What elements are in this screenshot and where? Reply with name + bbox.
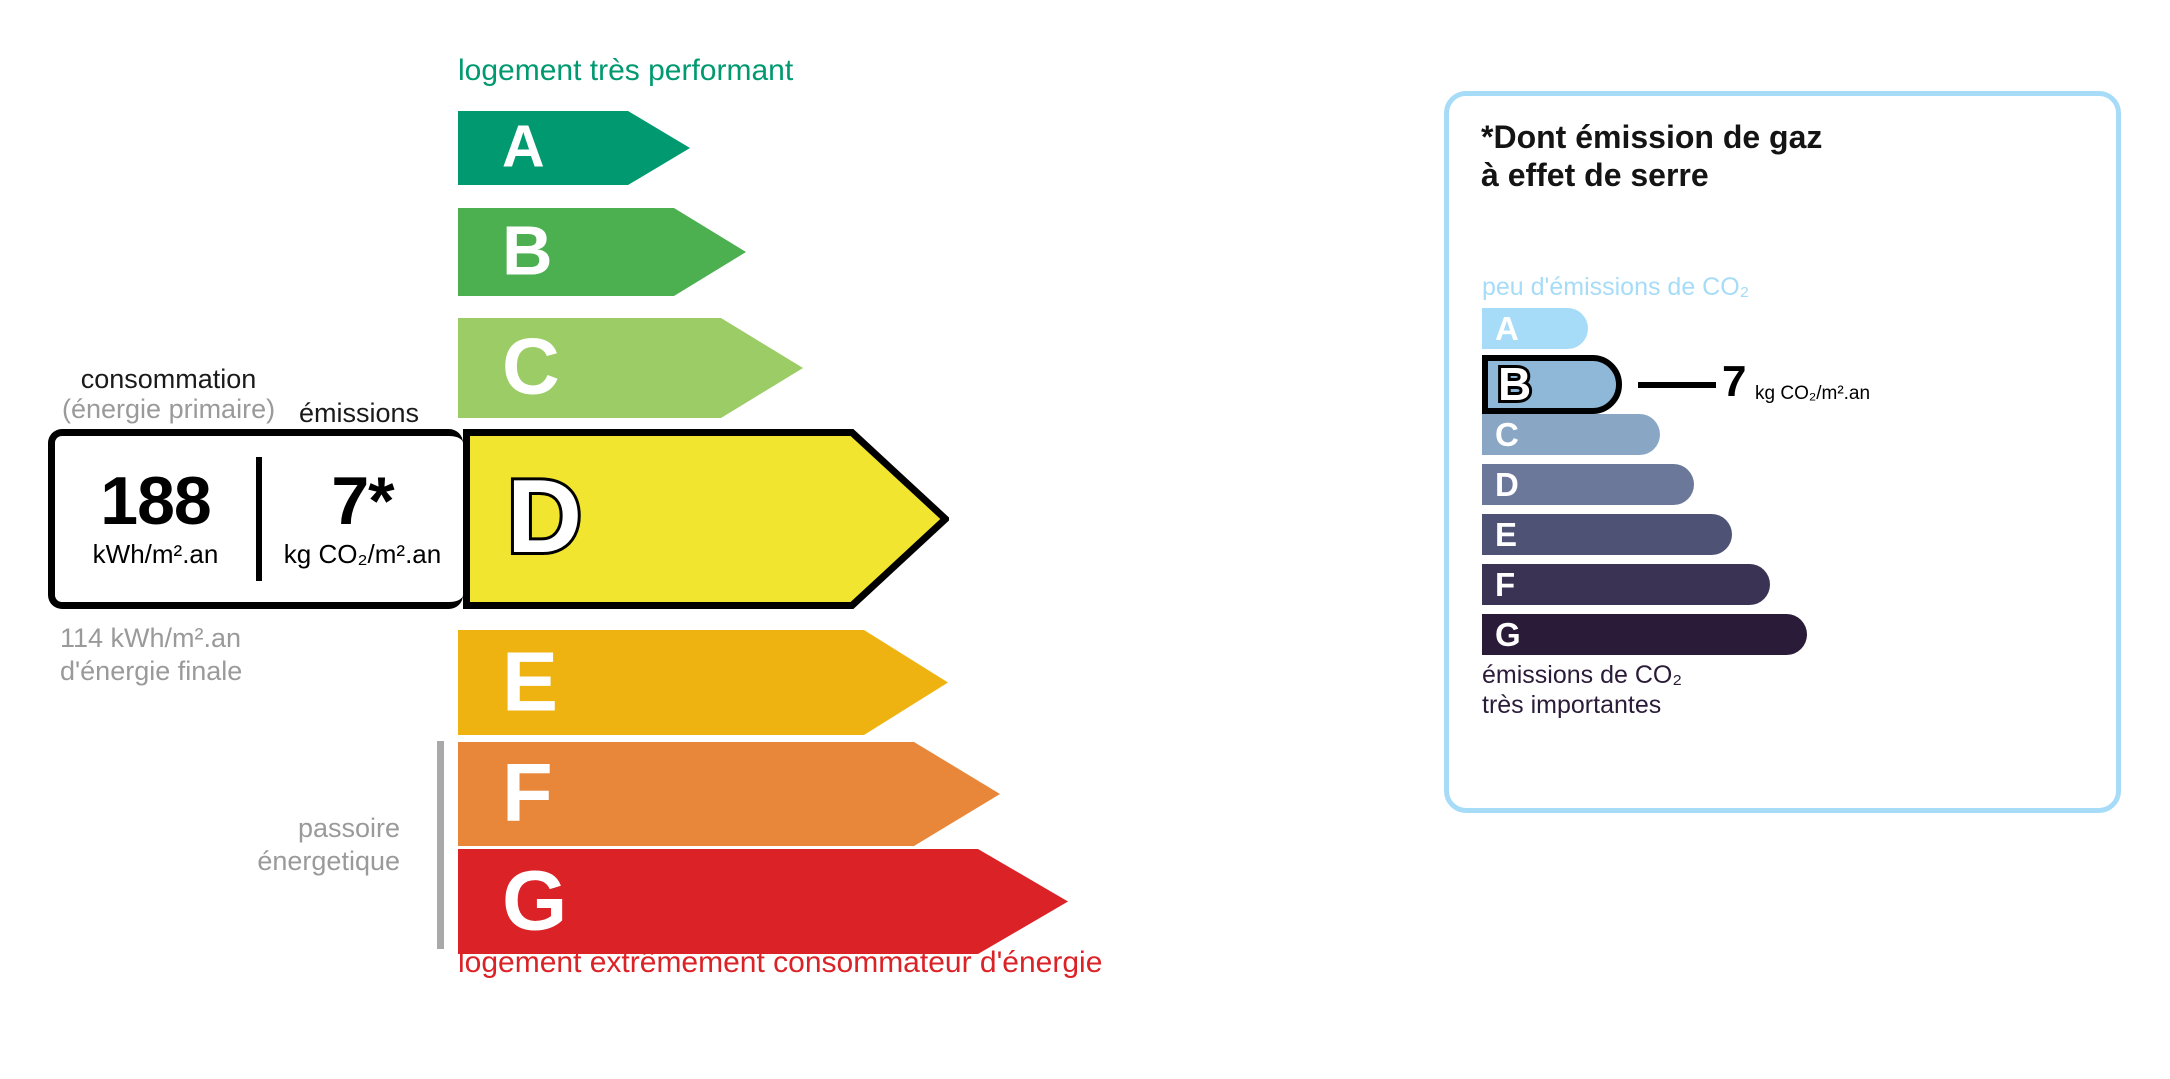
co2-bottom-line1: émissions de CO₂ [1482, 661, 1682, 689]
co2-title-line2: à effet de serre [1481, 157, 1709, 193]
co2-bar-letter-c: C [1495, 417, 1519, 450]
energy-band-letter-b: B [502, 216, 553, 286]
co2-callout-unit: kg CO₂/m².an [1755, 383, 1870, 405]
energy-consumption-panel: logement très performant ABCEFGD 188 kWh… [0, 0, 1320, 1079]
energy-bottom-caption: logement extrêmement consommateur d'éner… [458, 946, 1102, 980]
co2-bar-letter-a: A [1495, 311, 1519, 344]
consumption-unit: kWh/m².an [61, 539, 250, 570]
emissions-value: 7* [268, 468, 457, 535]
consumption-label-sub: (énergie primaire) [62, 394, 275, 424]
co2-panel-title: *Dont émission de gaz à effet de serre [1481, 119, 1822, 195]
energy-band-d-selected: D [463, 429, 949, 609]
co2-bar-g: G [1482, 614, 1807, 655]
energy-band-letter-g: G [502, 858, 567, 942]
passoire-line1: passoire [298, 813, 400, 843]
co2-bottom-caption: émissions de CO₂ très importantes [1482, 660, 1682, 720]
co2-bar-fill [1482, 564, 1770, 605]
consumption-value-cell: 188 kWh/m².an [55, 468, 256, 570]
energy-band-letter-a: A [502, 117, 545, 176]
co2-top-caption: peu d'émissions de CO₂ [1482, 273, 1749, 302]
energy-band-g: G [458, 849, 1068, 954]
energy-top-caption: logement très performant [458, 54, 793, 88]
energy-band-f: F [458, 742, 1000, 846]
co2-bar-c: C [1482, 414, 1660, 455]
co2-bar-d: D [1482, 464, 1694, 505]
emissions-label: émissions [299, 398, 419, 428]
passoire-energetique-label: passoire énergetique [200, 812, 400, 878]
final-energy-line2: d'énergie finale [60, 656, 242, 686]
co2-bar-letter-e: E [1495, 517, 1517, 550]
co2-bar-a: A [1482, 308, 1588, 349]
energy-band-c: C [458, 318, 803, 418]
co2-bar-fill [1482, 514, 1732, 555]
co2-callout-value: 7 [1722, 360, 1746, 404]
energy-band-e: E [458, 630, 948, 735]
energy-value-box: 188 kWh/m².an 7* kg CO₂/m².an [48, 429, 463, 609]
energy-band-letter-f: F [502, 751, 553, 834]
energy-band-b: B [458, 208, 746, 296]
emissions-unit: kg CO₂/m².an [268, 539, 457, 570]
co2-bottom-line2: très importantes [1482, 691, 1661, 719]
final-energy-note: 114 kWh/m².an d'énergie finale [60, 622, 242, 688]
energy-band-a: A [458, 111, 690, 185]
co2-bar-letter-d: D [1495, 467, 1519, 500]
co2-title-line1: *Dont émission de gaz [1481, 119, 1822, 155]
co2-bar-f: F [1482, 564, 1770, 605]
energy-band-letter-c: C [502, 326, 560, 406]
co2-bar-letter-g: G [1495, 617, 1521, 650]
co2-bar-fill [1482, 614, 1807, 655]
dpe-diagram: logement très performant ABCEFGD 188 kWh… [0, 0, 2170, 1079]
final-energy-line1: 114 kWh/m².an [60, 623, 241, 653]
co2-emissions-panel: *Dont émission de gaz à effet de serre p… [1444, 91, 2121, 813]
energy-band-letter-e: E [502, 639, 558, 723]
consumption-label: consommation (énergie primaire) [62, 364, 275, 424]
emissions-value-cell: 7* kg CO₂/m².an [262, 468, 463, 570]
co2-bar-letter-f: F [1495, 567, 1515, 600]
energy-band-letter-d: D [507, 465, 582, 569]
consumption-label-main: consommation [81, 364, 257, 394]
passoire-bracket-line [437, 741, 444, 949]
co2-bar-b-selected: B [1482, 355, 1622, 414]
passoire-line2: énergetique [257, 846, 400, 876]
co2-bar-e: E [1482, 514, 1732, 555]
co2-callout-leader-line [1638, 382, 1716, 388]
consumption-value: 188 [61, 468, 250, 535]
co2-bar-letter-b: B [1498, 361, 1531, 407]
